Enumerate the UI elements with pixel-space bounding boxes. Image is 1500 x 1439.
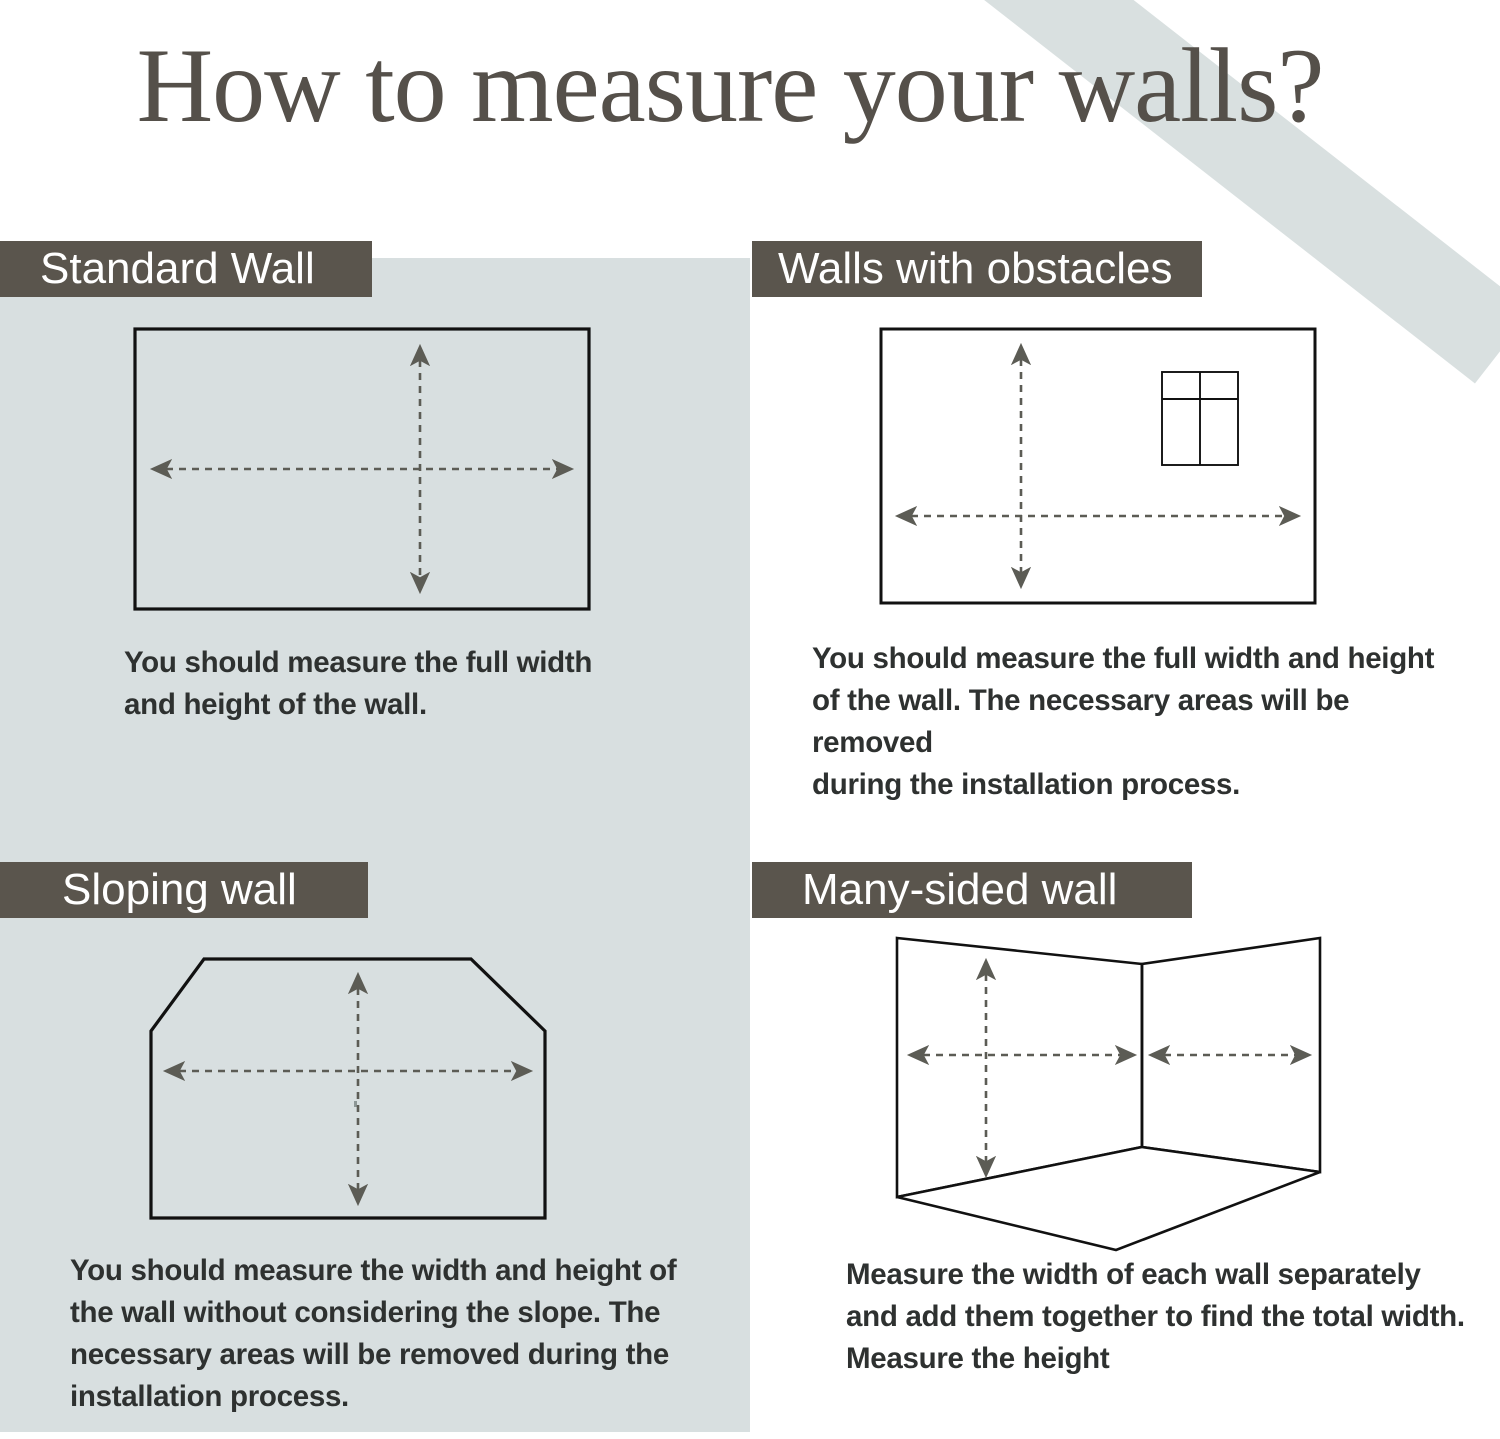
- caption-line: installation process.: [70, 1376, 690, 1418]
- section-header-label: Sloping wall: [0, 862, 368, 918]
- section-header-sloping-wall: Sloping wall: [0, 862, 368, 918]
- section-header-many-sided-wall: Many-sided wall: [752, 862, 1192, 918]
- wall-outline: [881, 329, 1315, 603]
- caption-line: You should measure the full width and he…: [812, 638, 1472, 680]
- section-header-label: Walls with obstacles: [752, 241, 1202, 297]
- section-header-standard-wall: Standard Wall: [0, 241, 372, 297]
- caption-standard-wall: You should measure the full width and he…: [124, 642, 644, 726]
- caption-many-sided-wall: Measure the width of each wall separatel…: [846, 1254, 1476, 1380]
- wall-outline: [151, 959, 545, 1218]
- section-header-walls-with-obstacles: Walls with obstacles: [752, 241, 1202, 297]
- caption-sloping-wall: You should measure the width and height …: [70, 1250, 690, 1418]
- caption-line: necessary areas will be removed during t…: [70, 1334, 690, 1376]
- caption-line: You should measure the width and height …: [70, 1250, 690, 1292]
- caption-line: of the wall. The necessary areas will be…: [812, 680, 1472, 764]
- caption-line: Measure the height: [846, 1338, 1476, 1380]
- caption-line: and add them together to find the total …: [846, 1296, 1476, 1338]
- sloping-wall-diagram: [130, 945, 585, 1255]
- many-sided-wall-diagram: [888, 925, 1338, 1260]
- standard-wall-diagram: [132, 326, 592, 612]
- caption-line: during the installation process.: [812, 764, 1472, 806]
- caption-line: Measure the width of each wall separatel…: [846, 1254, 1476, 1296]
- section-header-label: Many-sided wall: [752, 862, 1192, 918]
- infographic-page: How to measure your walls? Standard Wall…: [0, 0, 1500, 1439]
- page-title: How to measure your walls?: [0, 28, 1460, 145]
- caption-line: and height of the wall.: [124, 684, 644, 726]
- window-icon: [1162, 372, 1238, 465]
- caption-line: You should measure the full width: [124, 642, 644, 684]
- caption-line: the wall without considering the slope. …: [70, 1292, 690, 1334]
- caption-walls-with-obstacles: You should measure the full width and he…: [812, 638, 1472, 806]
- section-header-label: Standard Wall: [0, 241, 372, 297]
- obstacle-wall-diagram: [878, 326, 1318, 606]
